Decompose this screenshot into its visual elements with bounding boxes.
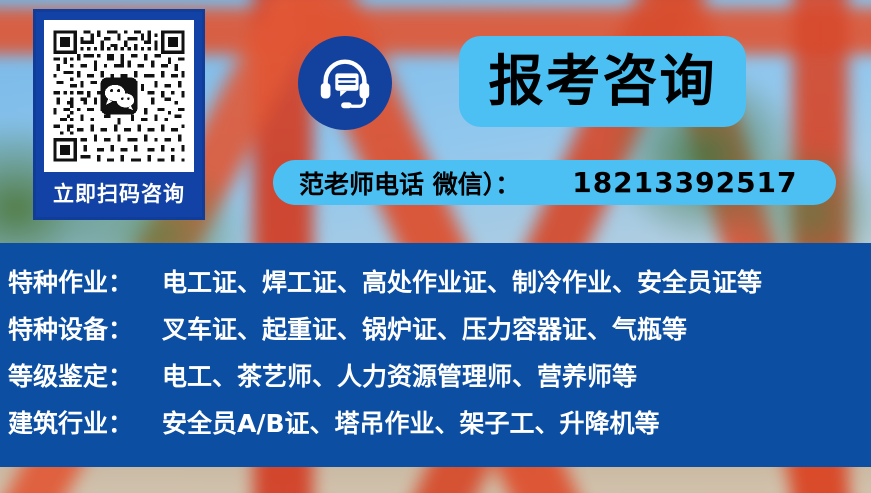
category-label: 特种作业：: [8, 259, 158, 306]
category-items: 叉车证、起重证、锅炉证、压力容器证、气瓶等: [162, 306, 687, 353]
promo-poster: 立即扫码咨询 报考咨询 范老师电话 微信）： 18213392517 特种作业：: [0, 0, 871, 493]
qr-card[interactable]: 立即扫码咨询: [33, 9, 205, 220]
contact-pill[interactable]: 范老师电话 微信）： 18213392517: [273, 160, 836, 205]
info-row: 建筑行业： 安全员A/B证、塔吊作业、架子工、升降机等: [8, 400, 871, 447]
qr-code-area[interactable]: [44, 20, 194, 172]
headset-support-badge: [298, 36, 392, 130]
info-row: 特种作业： 电工证、焊工证、高处作业证、制冷作业、安全员证等: [8, 259, 871, 306]
category-label: 建筑行业：: [8, 400, 158, 447]
certificate-categories-band: 特种作业： 电工证、焊工证、高处作业证、制冷作业、安全员证等 特种设备： 叉车证…: [0, 243, 871, 467]
title-text: 报考咨询: [488, 54, 716, 109]
headset-support-icon: [314, 52, 376, 114]
info-row: 特种设备： 叉车证、起重证、锅炉证、压力容器证、气瓶等: [8, 306, 871, 353]
qr-code-image: [50, 26, 188, 166]
info-row: 等级鉴定： 电工、茶艺师、人力资源管理师、营养师等: [8, 353, 871, 400]
category-label: 等级鉴定：: [8, 353, 158, 400]
title-pill: 报考咨询: [459, 36, 746, 127]
category-label: 特种设备：: [8, 306, 158, 353]
contact-label: 范老师电话 微信）：: [299, 165, 520, 201]
contact-phone-number[interactable]: 18213392517: [572, 166, 797, 199]
category-items: 安全员A/B证、塔吊作业、架子工、升降机等: [162, 400, 660, 447]
qr-caption: 立即扫码咨询: [44, 172, 194, 216]
category-items: 电工、茶艺师、人力资源管理师、营养师等: [162, 353, 637, 400]
category-items: 电工证、焊工证、高处作业证、制冷作业、安全员证等: [162, 259, 762, 306]
